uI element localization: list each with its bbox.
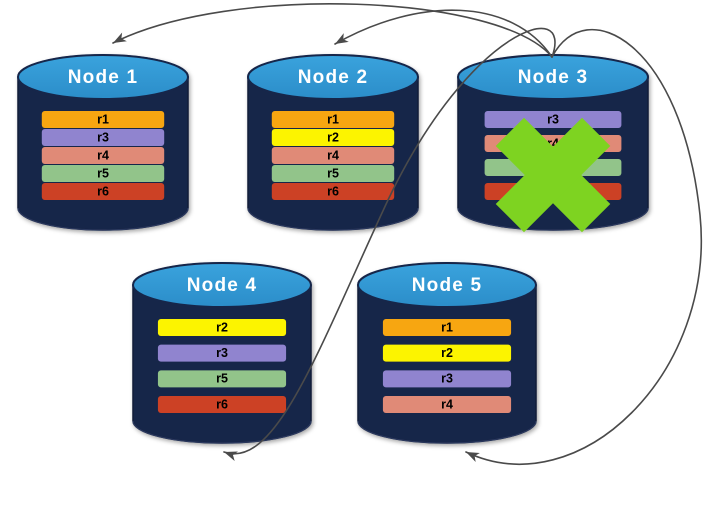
record-bar[interactable]: r1 xyxy=(42,111,164,128)
record-bar[interactable]: r4 xyxy=(272,147,394,164)
record-label-r3: r3 xyxy=(216,346,228,360)
node-cylinder-2[interactable]: Node 2r1r2r4r5r6 xyxy=(248,55,418,230)
record-label-r2: r2 xyxy=(216,320,228,334)
record-bar[interactable]: r3 xyxy=(485,111,622,128)
record-label-r2: r2 xyxy=(441,346,453,360)
node-cylinder-5[interactable]: Node 5r1r2r3r4 xyxy=(358,263,536,443)
record-bar[interactable]: r5 xyxy=(42,165,164,182)
replication-diagram: Node 1r1r3r4r5r6Node 2r1r2r4r5r6Node 3r3… xyxy=(0,0,708,508)
arrow-head xyxy=(111,32,127,47)
node-title-4: Node 4 xyxy=(187,275,258,296)
nodes-layer: Node 1r1r3r4r5r6Node 2r1r2r4r5r6Node 3r3… xyxy=(18,55,648,443)
record-bar[interactable]: r3 xyxy=(383,370,511,387)
record-label-r4: r4 xyxy=(327,148,339,162)
node-cylinder-1[interactable]: Node 1r1r3r4r5r6 xyxy=(18,55,188,230)
record-bar[interactable]: r6 xyxy=(158,396,286,413)
arrow-head xyxy=(333,33,349,48)
record-bar[interactable]: r6 xyxy=(42,183,164,200)
node-cylinder-4[interactable]: Node 4r2r3r5r6 xyxy=(133,263,311,443)
record-label-r5: r5 xyxy=(97,166,109,180)
record-bar[interactable]: r4 xyxy=(42,147,164,164)
node-title-1: Node 1 xyxy=(68,67,139,88)
arrow-node3-to-node1 xyxy=(111,4,552,57)
record-bar[interactable]: r2 xyxy=(383,345,511,362)
node-title-5: Node 5 xyxy=(412,275,483,296)
record-bar[interactable]: r6 xyxy=(272,183,394,200)
record-bar[interactable]: r3 xyxy=(158,345,286,362)
record-label-r6: r6 xyxy=(327,184,339,198)
record-label-r5: r5 xyxy=(216,372,228,386)
record-bar[interactable]: r2 xyxy=(158,319,286,336)
record-bar[interactable]: r5 xyxy=(272,165,394,182)
record-label-r5: r5 xyxy=(327,166,339,180)
record-label-r1: r1 xyxy=(327,112,339,126)
record-label-r6: r6 xyxy=(216,397,228,411)
node-cylinder-3[interactable]: Node 3r3r4r5r6 xyxy=(458,55,648,230)
arrow-head xyxy=(464,447,480,462)
arrow-curve xyxy=(113,4,552,57)
record-label-r3: r3 xyxy=(441,372,453,386)
record-label-r4: r4 xyxy=(441,397,453,411)
diagram-canvas: Node 1r1r3r4r5r6Node 2r1r2r4r5r6Node 3r3… xyxy=(0,0,708,508)
record-label-r3: r3 xyxy=(97,130,109,144)
record-bar[interactable]: r5 xyxy=(158,370,286,387)
node-title-3: Node 3 xyxy=(518,67,589,88)
record-bar[interactable]: r2 xyxy=(272,129,394,146)
record-label-r6: r6 xyxy=(97,184,109,198)
record-label-r4: r4 xyxy=(97,148,109,162)
record-label-r1: r1 xyxy=(441,320,453,334)
record-bar[interactable]: r1 xyxy=(383,319,511,336)
record-bar[interactable]: r4 xyxy=(383,396,511,413)
record-label-r2: r2 xyxy=(327,130,339,144)
record-label-r1: r1 xyxy=(97,112,109,126)
record-bar[interactable]: r3 xyxy=(42,129,164,146)
node-title-2: Node 2 xyxy=(298,67,369,88)
record-label-r3: r3 xyxy=(547,112,559,126)
record-bar[interactable]: r1 xyxy=(272,111,394,128)
